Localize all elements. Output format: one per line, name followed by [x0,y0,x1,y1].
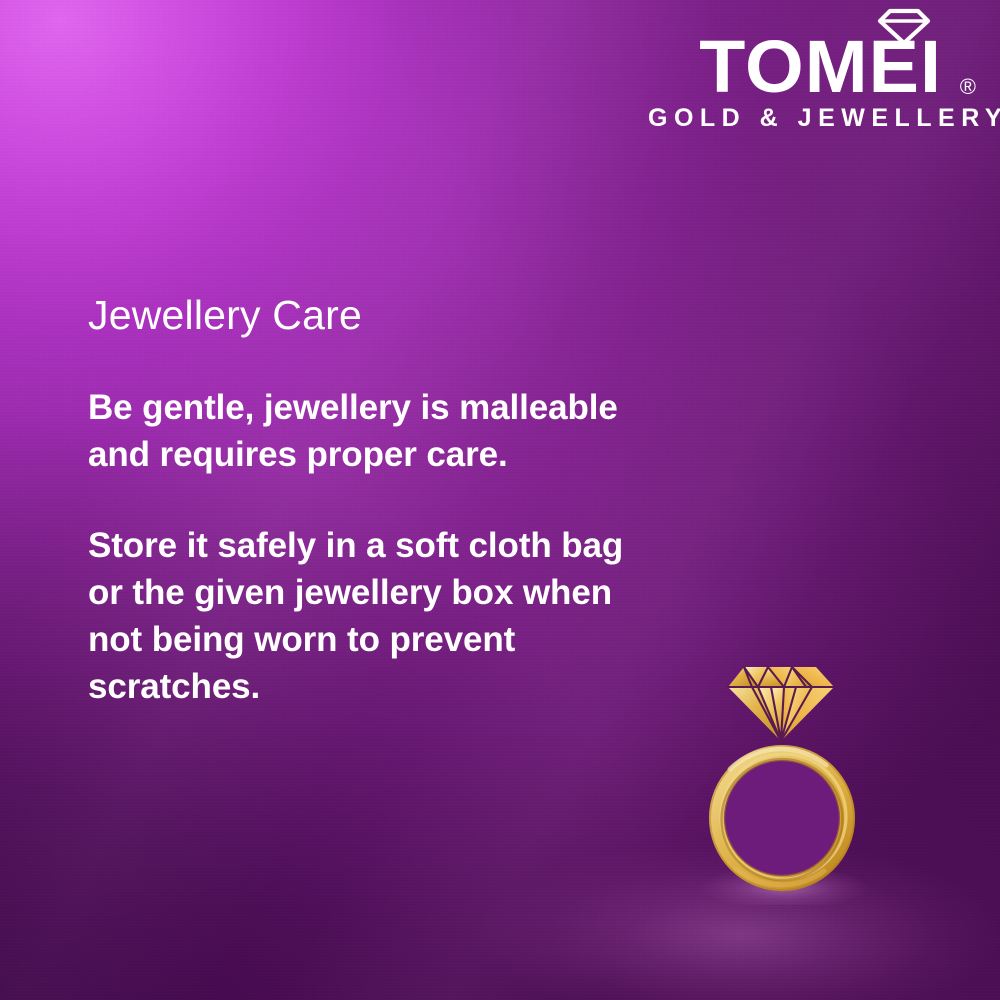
logo-wordmark-row: TOMEI ® [648,6,978,102]
body-paragraph-2: Store it safely in a soft cloth bag or t… [88,522,648,710]
copy-block: Jewellery Care Be gentle, jewellery is m… [88,290,648,710]
registered-trademark-symbol: ® [960,76,976,98]
diamond-gem [728,667,834,741]
diamond-ring-illustration [700,645,870,905]
logo-wordmark-text: TOMEI [699,30,942,104]
poster-canvas: TOMEI ® GOLD & JEWELLERY Jewellery Care … [0,0,1000,1000]
body-paragraph-1: Be gentle, jewellery is malleable and re… [88,384,648,478]
brand-logo: TOMEI ® GOLD & JEWELLERY [648,6,978,132]
page-title: Jewellery Care [88,290,648,340]
logo-tagline-text: GOLD & JEWELLERY [648,104,978,132]
